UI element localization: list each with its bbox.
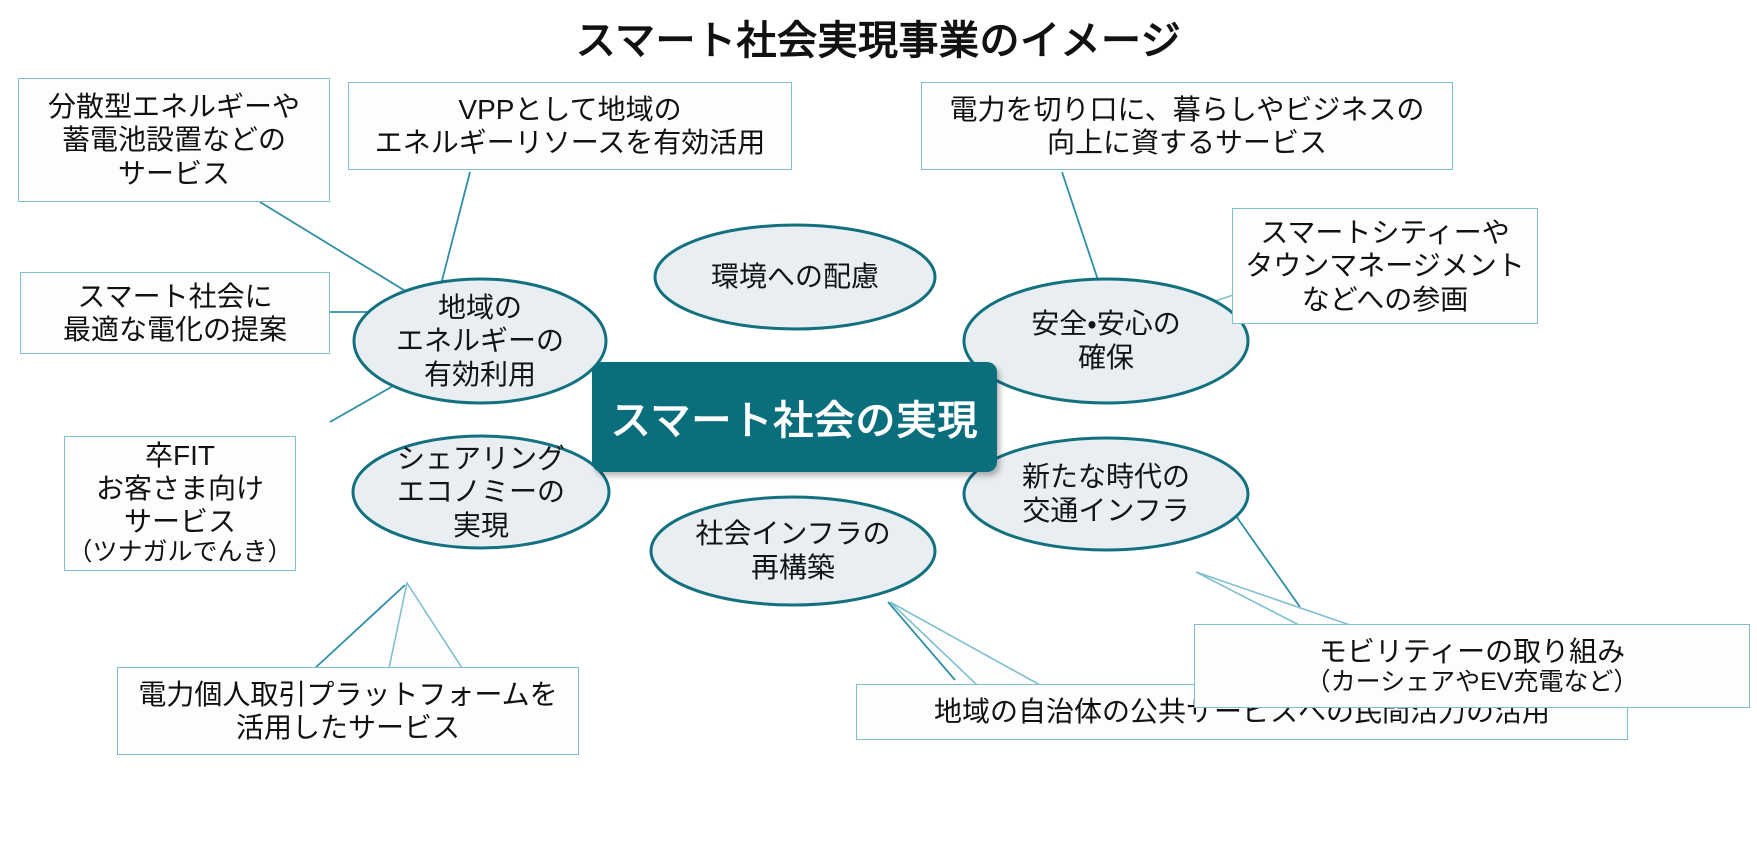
connector-post-fit	[330, 382, 400, 422]
callout-electric-power-service[interactable]: 電力を切り口に、暮らしやビジネスの 向上に資するサービス	[921, 82, 1453, 170]
callout-post-fit-line2: お客さま向け	[96, 472, 264, 505]
ellipse-infra[interactable]	[651, 497, 935, 605]
tail-p2p	[389, 583, 462, 668]
callout-distributed-energy[interactable]: 分散型エネルギーや 蓄電池設置などの サービス	[18, 78, 330, 202]
callout-vpp[interactable]: VPPとして地域の エネルギーリソースを有効活用	[348, 82, 792, 170]
callout-distributed-energy-line2: 蓄電池設置などの	[62, 123, 286, 156]
center-node-label: スマート社会の実現	[611, 388, 979, 446]
callout-post-fit-line3: サービス	[124, 505, 236, 538]
ellipse-energy[interactable]	[354, 279, 606, 403]
callout-post-fit-note: （ツナガルでんき）	[68, 538, 293, 568]
callout-post-fit[interactable]: 卒FIT お客さま向け サービス （ツナガルでんき）	[64, 436, 296, 571]
callout-electrification[interactable]: スマート社会に 最適な電化の提案	[20, 272, 330, 354]
callout-vpp-line1: VPPとして地域の	[458, 93, 681, 126]
callout-p2p-platform-line1: 電力個人取引プラットフォームを	[138, 678, 557, 711]
callout-p2p-platform[interactable]: 電力個人取引プラットフォームを 活用したサービス	[117, 667, 579, 755]
callout-smart-city[interactable]: スマートシティーや タウンマネージメント などへの参画	[1232, 208, 1538, 324]
callout-electrification-line2: 最適な電化の提案	[63, 313, 287, 346]
callout-electric-power-service-line1: 電力を切り口に、暮らしやビジネスの	[950, 93, 1425, 126]
callout-electrification-line1: スマート社会に	[77, 280, 272, 313]
callout-smart-city-line1: スマートシティーや	[1260, 216, 1509, 249]
center-node[interactable]: スマート社会の実現	[592, 362, 997, 472]
callout-smart-city-line3: などへの参画	[1302, 283, 1469, 316]
tail-mobility	[1196, 572, 1350, 625]
callout-mobility[interactable]: モビリティーの取り組み （カーシェアやEV充電など）	[1194, 624, 1750, 708]
callout-smart-city-line2: タウンマネージメント	[1245, 249, 1524, 282]
connector-vpp	[438, 172, 470, 296]
callout-distributed-energy-line3: サービス	[118, 157, 230, 190]
ellipse-safety[interactable]	[964, 279, 1248, 403]
callout-distributed-energy-line1: 分散型エネルギーや	[48, 90, 300, 123]
callout-mobility-note: （カーシェアやEV充電など）	[1306, 668, 1639, 698]
ellipse-sharing[interactable]	[353, 436, 609, 548]
callout-p2p-platform-line2: 活用したサービス	[236, 711, 460, 744]
ellipse-environment[interactable]	[655, 225, 935, 329]
callout-post-fit-line1: 卒FIT	[145, 439, 215, 472]
diagram-canvas: スマート社会実現事業のイメージ	[0, 0, 1757, 841]
tail-public-service	[890, 602, 1040, 685]
callout-electric-power-service-line2: 向上に資するサービス	[1047, 126, 1327, 159]
callout-vpp-line2: エネルギーリソースを有効活用	[375, 126, 766, 159]
ellipse-transport[interactable]	[964, 438, 1248, 550]
callout-mobility-line1: モビリティーの取り組み	[1319, 635, 1625, 668]
